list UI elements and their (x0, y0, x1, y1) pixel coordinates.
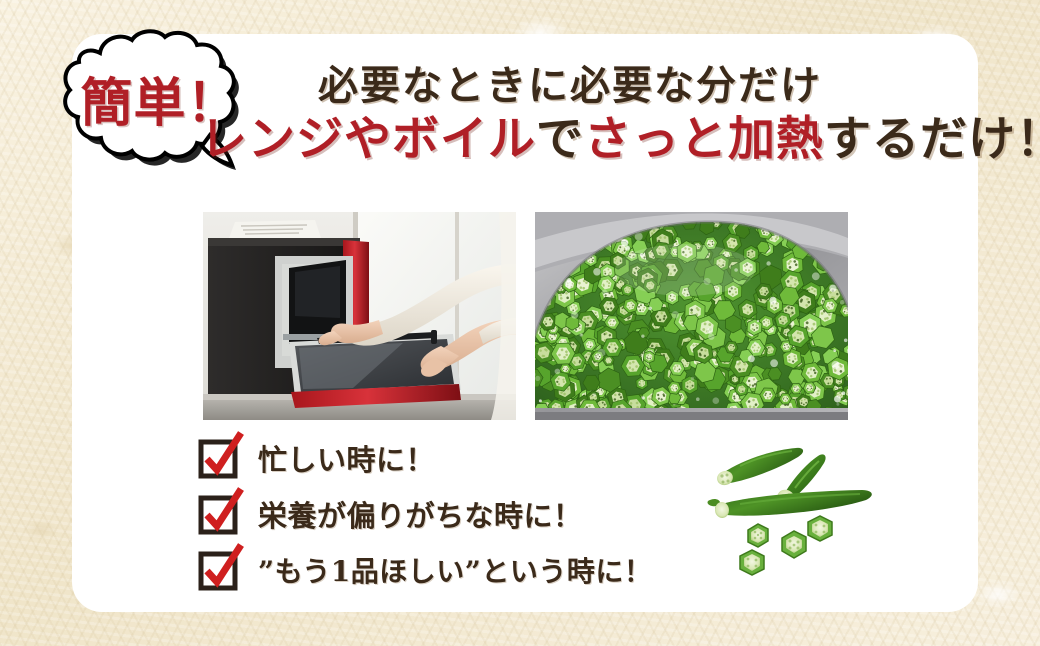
okra-slice-1 (748, 524, 768, 547)
okra-slice-4 (740, 550, 764, 575)
okra-slice-3 (808, 516, 832, 541)
headline-seg-renji: レンジやボイル (200, 112, 536, 167)
okra-pods-and-slices-illustration (700, 438, 915, 588)
list-item-label: 栄養が偏りがちな時に！ (258, 493, 583, 535)
list-item: 忙しい時に！ (200, 432, 720, 484)
okra-pod-1 (715, 448, 803, 487)
headline-seg-kanetsu: 加熱 (728, 112, 824, 167)
headline-line-2: レンジやボイルでさっと加熱するだけ！ (200, 116, 940, 163)
okra-pod-3 (708, 490, 872, 519)
promo-banner: 簡単！ 必要なときに必要な分だけ レンジやボイルでさっと加熱するだけ！ (0, 0, 1040, 646)
checked-box-icon (200, 495, 238, 533)
list-item: 栄養が偏りがちな時に！ (200, 488, 720, 540)
checked-box-icon (200, 551, 238, 589)
headline: 必要なときに必要な分だけ レンジやボイルでさっと加熱するだけ！ (200, 66, 940, 163)
microwave-oven-photo (203, 212, 516, 420)
benefit-checklist: 忙しい時に！ 栄養が偏りがちな時に！ ”もう1品ほしい”という時に！ (200, 432, 720, 600)
okra-slice-2 (782, 531, 806, 558)
checked-box-icon (200, 439, 238, 477)
headline-line-1: 必要なときに必要な分だけ (200, 66, 940, 106)
list-item-label: ”もう1品ほしい”という時に！ (258, 550, 652, 590)
boiling-okra-photo (535, 212, 848, 420)
list-item: ”もう1品ほしい”という時に！ (200, 544, 720, 596)
headline-seg-satto: さっと (584, 112, 728, 167)
headline-seg-de: で (536, 112, 584, 167)
list-item-label: 忙しい時に！ (258, 437, 435, 479)
headline-seg-surudake: するだけ！ (824, 112, 1040, 167)
